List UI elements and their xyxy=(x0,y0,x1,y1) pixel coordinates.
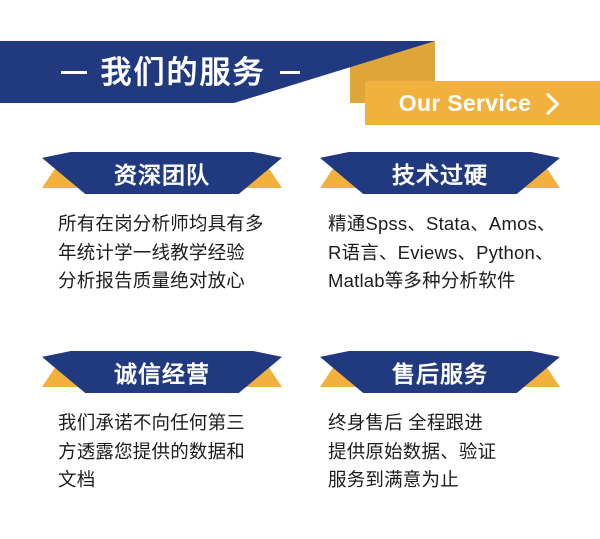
card-body: 精通Spss、Stata、Amos、 R语言、Eviews、Python、 Ma… xyxy=(320,210,600,296)
card-body-line: 服务到满意为止 xyxy=(328,466,600,495)
ribbon-label-text: Our Service xyxy=(399,90,531,117)
card-row-1: 资深团队 所有在岗分析师均具有多 年统计学一线教学经验 分析报告质量绝对放心 技… xyxy=(0,152,600,296)
card-body-line: 终身售后 全程跟进 xyxy=(328,409,600,438)
card-body-line: 提供原始数据、验证 xyxy=(328,438,600,467)
card-body-line: 年统计学一线教学经验 xyxy=(58,239,300,268)
card-body-line: 所有在岗分析师均具有多 xyxy=(58,210,300,239)
card-badge: 技术过硬 xyxy=(320,152,560,194)
row-spacer xyxy=(0,296,600,351)
title-dash-left-icon xyxy=(61,71,87,74)
card-body: 所有在岗分析师均具有多 年统计学一线教学经验 分析报告质量绝对放心 xyxy=(42,210,300,296)
card-body-line: 分析报告质量绝对放心 xyxy=(58,267,300,296)
page-title-text: 我们的服务 xyxy=(101,57,266,88)
card-row-2: 诚信经营 我们承诺不向任何第三 方透露您提供的数据和 文档 售后服务 终身售后 … xyxy=(0,351,600,495)
page-header: 我们的服务 Our Service xyxy=(0,0,600,140)
card-body-line: 精通Spss、Stata、Amos、 xyxy=(328,210,600,239)
card-body-line: 我们承诺不向任何第三 xyxy=(58,409,300,438)
card-badge-label: 技术过硬 xyxy=(320,152,560,194)
card-badge-label: 售后服务 xyxy=(320,351,560,393)
service-card-grid: 资深团队 所有在岗分析师均具有多 年统计学一线教学经验 分析报告质量绝对放心 技… xyxy=(0,152,600,495)
card-body-line: 文档 xyxy=(58,466,300,495)
service-card-technical-strength: 技术过硬 精通Spss、Stata、Amos、 R语言、Eviews、Pytho… xyxy=(300,152,600,296)
service-card-senior-team: 资深团队 所有在岗分析师均具有多 年统计学一线教学经验 分析报告质量绝对放心 xyxy=(0,152,300,296)
title-dash-right-icon xyxy=(280,71,300,74)
card-badge: 资深团队 xyxy=(42,152,282,194)
card-body-line: R语言、Eviews、Python、 xyxy=(328,239,600,268)
card-body-line: Matlab等多种分析软件 xyxy=(328,267,600,296)
card-badge-label: 资深团队 xyxy=(42,152,282,194)
ribbon-label: Our Service xyxy=(365,81,590,125)
page-title: 我们的服务 xyxy=(0,41,360,103)
card-body-line: 方透露您提供的数据和 xyxy=(58,438,300,467)
card-badge: 诚信经营 xyxy=(42,351,282,393)
service-card-integrity-operation: 诚信经营 我们承诺不向任何第三 方透露您提供的数据和 文档 xyxy=(0,351,300,495)
card-body: 我们承诺不向任何第三 方透露您提供的数据和 文档 xyxy=(42,409,300,495)
card-badge: 售后服务 xyxy=(320,351,560,393)
chevron-right-icon xyxy=(537,93,560,116)
card-badge-label: 诚信经营 xyxy=(42,351,282,393)
service-card-after-sales-service: 售后服务 终身售后 全程跟进 提供原始数据、验证 服务到满意为止 xyxy=(300,351,600,495)
card-body: 终身售后 全程跟进 提供原始数据、验证 服务到满意为止 xyxy=(320,409,600,495)
